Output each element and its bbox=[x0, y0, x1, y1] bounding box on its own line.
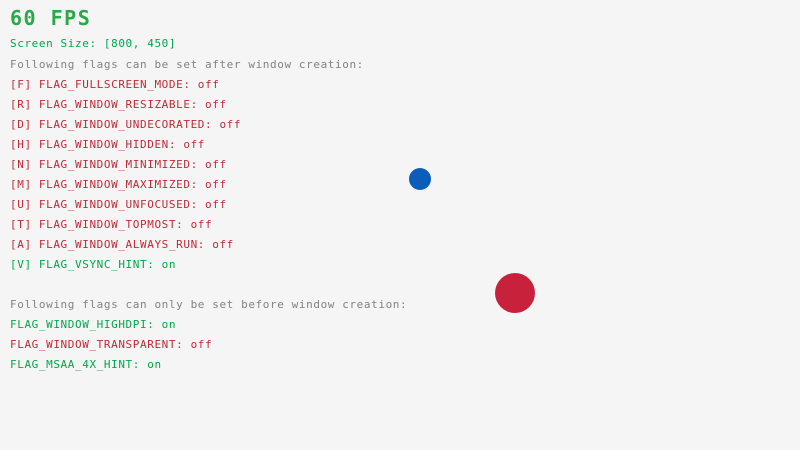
flag-row-flag-msaa-4x-hint[interactable]: FLAG_MSAA_4X_HINT: on bbox=[10, 359, 340, 379]
flag-row-flag-window-minimized[interactable]: [N] FLAG_WINDOW_MINIMIZED: off bbox=[10, 159, 340, 179]
flag-row-flag-window-always-run[interactable]: [A] FLAG_WINDOW_ALWAYS_RUN: off bbox=[10, 239, 340, 259]
before-creation-heading: Following flags can only be set before w… bbox=[10, 299, 407, 310]
flag-list-before-creation: FLAG_WINDOW_HIGHDPI: onFLAG_WINDOW_TRANS… bbox=[10, 319, 340, 379]
screen-size-label: Screen Size: [800, 450] bbox=[10, 38, 176, 49]
flag-row-flag-window-transparent[interactable]: FLAG_WINDOW_TRANSPARENT: off bbox=[10, 339, 340, 359]
flag-row-flag-window-highdpi[interactable]: FLAG_WINDOW_HIGHDPI: on bbox=[10, 319, 340, 339]
flag-row-flag-window-hidden[interactable]: [H] FLAG_WINDOW_HIDDEN: off bbox=[10, 139, 340, 159]
flag-row-flag-fullscreen-mode[interactable]: [F] FLAG_FULLSCREEN_MODE: off bbox=[10, 79, 340, 99]
flag-row-flag-window-maximized[interactable]: [M] FLAG_WINDOW_MAXIMIZED: off bbox=[10, 179, 340, 199]
flag-row-flag-window-unfocused[interactable]: [U] FLAG_WINDOW_UNFOCUSED: off bbox=[10, 199, 340, 219]
raylib-window-canvas: 60 FPS Screen Size: [800, 450] Following… bbox=[0, 0, 800, 450]
red-circle-shape bbox=[495, 273, 535, 313]
flag-row-flag-window-undecorated[interactable]: [D] FLAG_WINDOW_UNDECORATED: off bbox=[10, 119, 340, 139]
fps-counter: 60 FPS bbox=[10, 8, 91, 28]
flag-row-flag-window-resizable[interactable]: [R] FLAG_WINDOW_RESIZABLE: off bbox=[10, 99, 340, 119]
after-creation-heading: Following flags can be set after window … bbox=[10, 59, 364, 70]
blue-circle-shape bbox=[409, 168, 431, 190]
flag-row-flag-vsync-hint[interactable]: [V] FLAG_VSYNC_HINT: on bbox=[10, 259, 340, 279]
flag-list-after-creation: [F] FLAG_FULLSCREEN_MODE: off[R] FLAG_WI… bbox=[10, 79, 340, 279]
flag-row-flag-window-topmost[interactable]: [T] FLAG_WINDOW_TOPMOST: off bbox=[10, 219, 340, 239]
